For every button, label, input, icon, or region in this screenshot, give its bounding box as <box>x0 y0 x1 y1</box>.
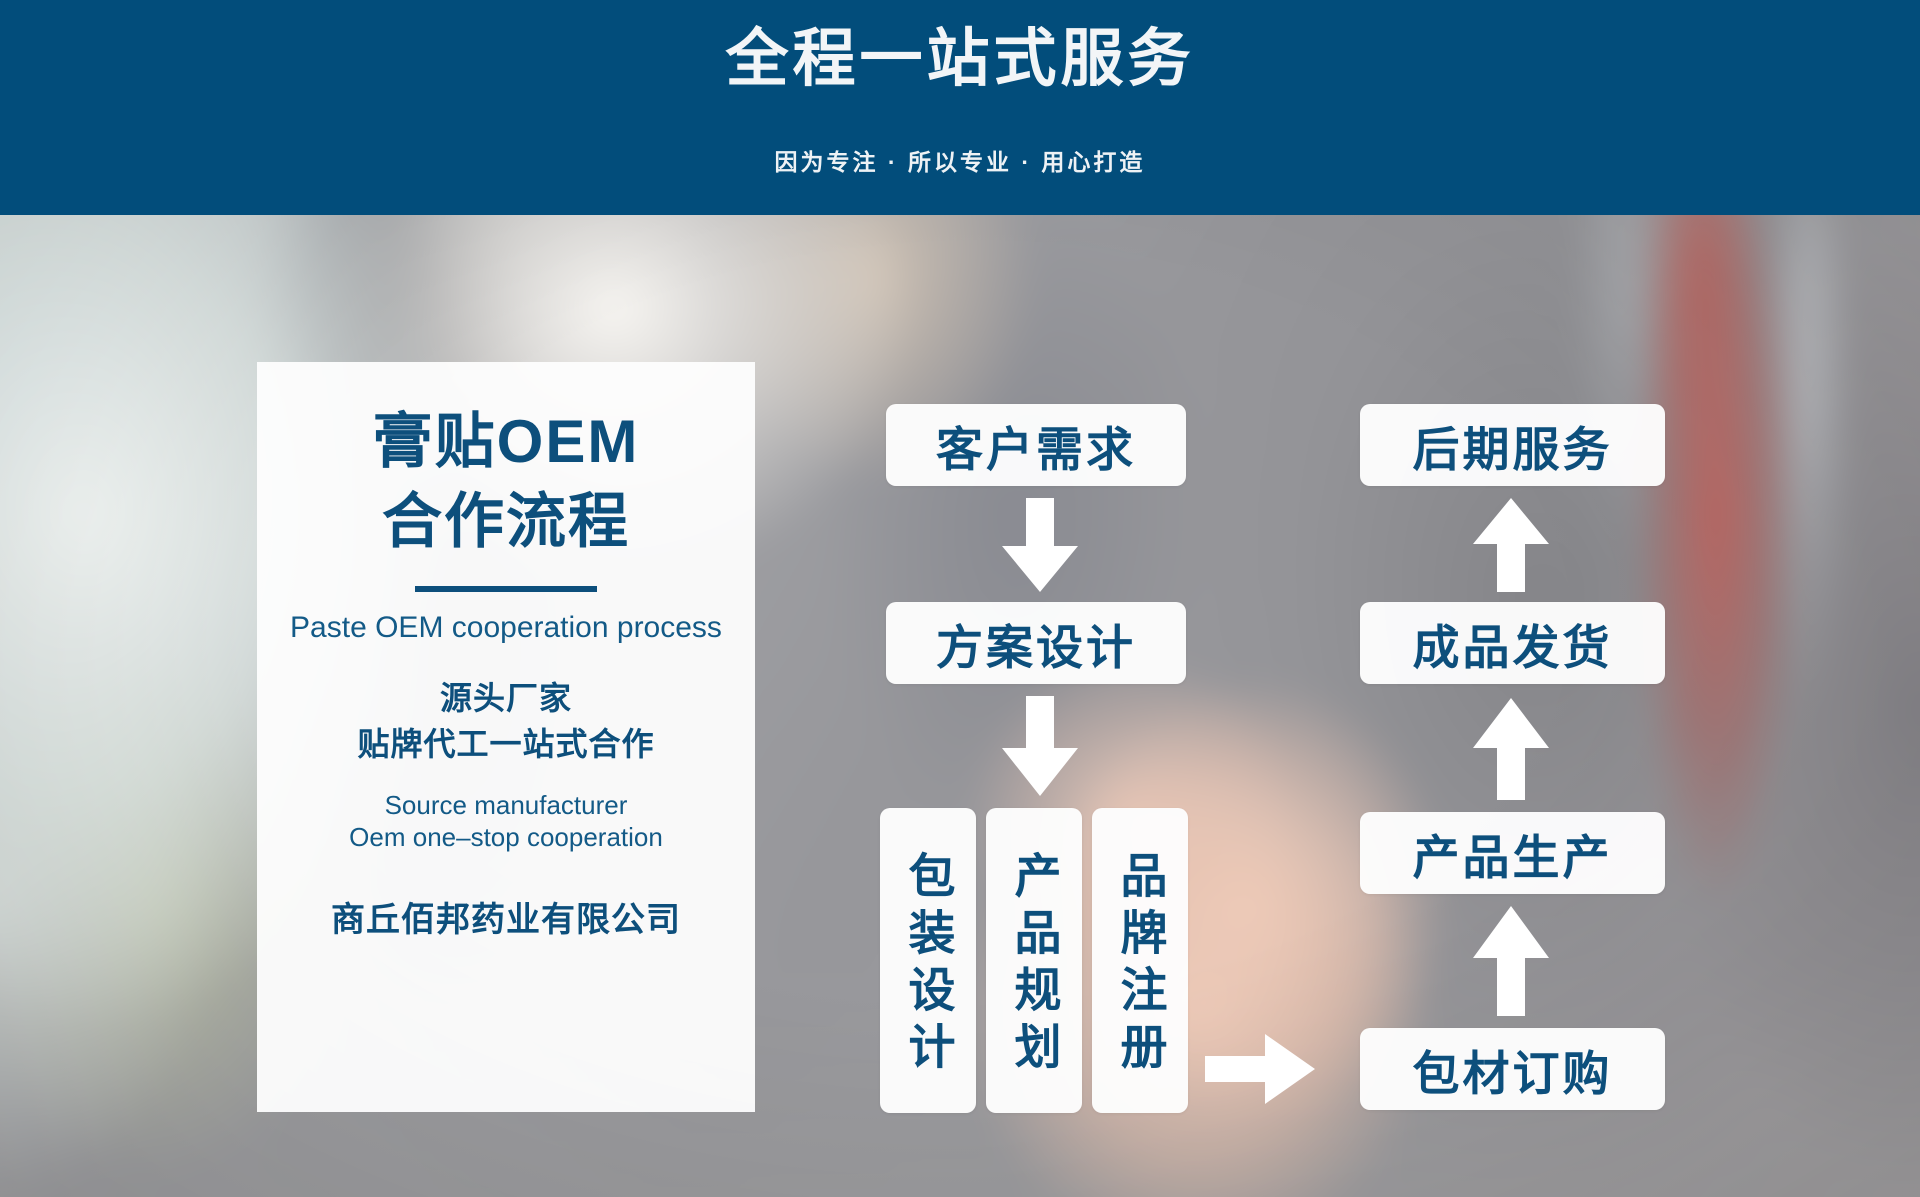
flow-step-package-design[interactable]: 包装设计 <box>880 808 976 1113</box>
flow-step-scheme-design[interactable]: 方案设计 <box>886 602 1186 684</box>
promo-banner: 全程一站式服务 因为专注 · 所以专业 · 用心打造 膏贴OEM 合作流程 Pa… <box>0 0 1920 1197</box>
info-card-english-feature-line2: Oem one–stop cooperation <box>279 821 733 853</box>
flow-step-packaging-material-order[interactable]: 包材订购 <box>1360 1028 1665 1110</box>
flow-step-finished-goods-shipping[interactable]: 成品发货 <box>1360 602 1665 684</box>
info-card-feature-line1: 源头厂家 <box>279 676 733 721</box>
arrow-up-icon <box>1467 698 1555 800</box>
flow-step-customer-demand[interactable]: 客户需求 <box>886 404 1186 486</box>
flow-step-product-planning[interactable]: 产品规划 <box>986 808 1082 1113</box>
info-card-english-subtitle: Paste OEM cooperation process <box>279 610 733 647</box>
info-card-title-line1: 膏贴OEM <box>279 402 733 482</box>
header-subtitle: 因为专注 · 所以专业 · 用心打造 <box>0 143 1920 177</box>
header-band: 全程一站式服务 因为专注 · 所以专业 · 用心打造 <box>0 0 1920 215</box>
arrow-down-icon <box>996 498 1084 592</box>
arrow-right-icon <box>1205 1034 1315 1104</box>
arrow-up-icon <box>1467 498 1555 592</box>
company-name: 商丘佰邦药业有限公司 <box>279 892 733 941</box>
info-card-divider <box>415 586 597 592</box>
header-title: 全程一站式服务 <box>0 26 1920 92</box>
info-card-feature-line2: 贴牌代工一站式合作 <box>279 722 733 767</box>
info-card-english-feature-line1: Source manufacturer <box>279 789 733 821</box>
info-card: 膏贴OEM 合作流程 Paste OEM cooperation process… <box>257 362 755 1112</box>
arrow-up-icon <box>1467 906 1555 1016</box>
flow-step-after-sales-service[interactable]: 后期服务 <box>1360 404 1665 486</box>
flow-step-product-manufacturing[interactable]: 产品生产 <box>1360 812 1665 894</box>
flow-step-brand-registration[interactable]: 品牌注册 <box>1092 808 1188 1113</box>
info-card-title-line2: 合作流程 <box>279 482 733 562</box>
arrow-down-icon <box>996 696 1084 796</box>
